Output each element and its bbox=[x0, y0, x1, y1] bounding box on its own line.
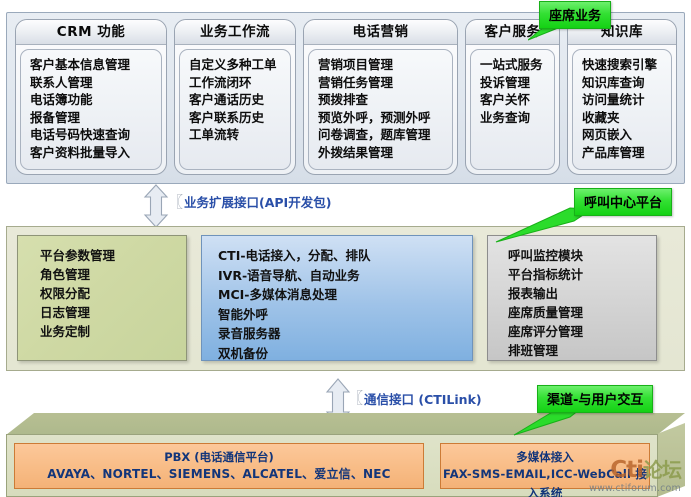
list-item: 营销项目管理 bbox=[318, 56, 445, 74]
list-item: 问卷调查，题库管理 bbox=[318, 126, 445, 144]
list-item: 排班管理 bbox=[508, 341, 646, 360]
api-double-arrow-icon bbox=[143, 184, 169, 228]
list-item: 工单流转 bbox=[189, 126, 283, 144]
list-item: 座席质量管理 bbox=[508, 303, 646, 322]
panel-core-engine[interactable]: CTI-电话接入，分配、排队 IVR-语音导航、自动业务 MCI-多媒体消息处理… bbox=[201, 235, 473, 361]
card-workflow[interactable]: 业务工作流 自定义多种工单 工作流闭环 客户通话历史 客户联系历史 工单流转 bbox=[174, 19, 296, 175]
list-item: 电话簿功能 bbox=[30, 91, 154, 109]
list-item: 一站式服务 bbox=[480, 56, 547, 74]
watermark: Cti论坛 www.ctiforum.com bbox=[567, 453, 687, 495]
list-item: 业务定制 bbox=[40, 322, 176, 341]
list-item: 客户通话历史 bbox=[189, 91, 283, 109]
card-customer-service[interactable]: 客户服务 一站式服务 投诉管理 客户关怀 业务查询 bbox=[465, 19, 560, 175]
list-item: 日志管理 bbox=[40, 303, 176, 322]
panel-platform-admin[interactable]: 平台参数管理 角色管理 权限分配 日志管理 业务定制 bbox=[17, 235, 187, 361]
list-item: 双机备份 bbox=[218, 344, 462, 364]
api-bracket-left-icon: 〖 bbox=[168, 191, 183, 212]
application-card-row: CRM 功能 客户基本信息管理 联系人管理 电话簿功能 报备管理 电话号码快速查… bbox=[15, 19, 676, 175]
pbx-title: PBX (电话通信平台) bbox=[15, 449, 423, 465]
list-item: 客户关怀 bbox=[480, 91, 547, 109]
business-application-layer: CRM 功能 客户基本信息管理 联系人管理 电话簿功能 报备管理 电话号码快速查… bbox=[6, 12, 685, 184]
platform-panel-row: 平台参数管理 角色管理 权限分配 日志管理 业务定制 CTI-电话接入，分配、排… bbox=[17, 235, 674, 361]
list-item: 报表输出 bbox=[508, 284, 646, 303]
watermark-logo-cn: 论坛 bbox=[643, 458, 681, 482]
list-item: 权限分配 bbox=[40, 284, 176, 303]
ctilink-interface-label: 通信接口 (CTILink) bbox=[364, 389, 482, 408]
list-item: 角色管理 bbox=[40, 265, 176, 284]
card-customer-service-body: 一站式服务 投诉管理 客户关怀 业务查询 bbox=[470, 49, 555, 170]
watermark-logo: Cti论坛 bbox=[610, 459, 681, 482]
list-item: CTI-电话接入，分配、排队 bbox=[218, 246, 462, 266]
list-item: 录音服务器 bbox=[218, 324, 462, 344]
architecture-diagram: CRM 功能 客户基本信息管理 联系人管理 电话簿功能 报备管理 电话号码快速查… bbox=[0, 0, 691, 497]
list-item: 预览外呼，预测外呼 bbox=[318, 109, 445, 127]
list-item: 客户联系历史 bbox=[189, 109, 283, 127]
list-item: 客户基本信息管理 bbox=[30, 56, 154, 74]
list-item: 产品库管理 bbox=[582, 144, 664, 162]
list-item: 预拨排查 bbox=[318, 91, 445, 109]
callout-platform[interactable]: 呼叫中心平台 bbox=[574, 188, 672, 216]
list-item: 平台参数管理 bbox=[40, 246, 176, 265]
card-knowledge-base[interactable]: 知识库 快速搜索引擎 知识库查询 访问量统计 收藏夹 网页嵌入 产品库管理 bbox=[567, 19, 677, 175]
list-item: 业务查询 bbox=[480, 109, 547, 127]
list-item: 座席评分管理 bbox=[508, 322, 646, 341]
callout-channel[interactable]: 渠道-与用户交互 bbox=[537, 385, 653, 413]
card-knowledge-base-body: 快速搜索引擎 知识库查询 访问量统计 收藏夹 网页嵌入 产品库管理 bbox=[572, 49, 672, 170]
list-item: 报备管理 bbox=[30, 109, 154, 127]
list-item: 快速搜索引擎 bbox=[582, 56, 664, 74]
list-item: 投诉管理 bbox=[480, 74, 547, 92]
list-item: 访问量统计 bbox=[582, 91, 664, 109]
list-item: 自定义多种工单 bbox=[189, 56, 283, 74]
list-item: 工作流闭环 bbox=[189, 74, 283, 92]
card-crm-title: CRM 功能 bbox=[16, 20, 166, 45]
pbx-vendors: AVAYA、NORTEL、SIEMENS、ALCATEL、爱立信、NEC bbox=[15, 465, 423, 484]
api-interface-label: 业务扩展接口(API开发包) bbox=[184, 192, 331, 211]
card-workflow-title: 业务工作流 bbox=[175, 20, 295, 45]
list-item: 智能外呼 bbox=[218, 305, 462, 325]
list-item: 呼叫监控模块 bbox=[508, 246, 646, 265]
list-item: 外拨结果管理 bbox=[318, 144, 445, 162]
slab-top-face bbox=[6, 413, 685, 435]
call-center-platform-layer: 平台参数管理 角色管理 权限分配 日志管理 业务定制 CTI-电话接入，分配、排… bbox=[6, 226, 685, 371]
list-item: 联系人管理 bbox=[30, 74, 154, 92]
list-item: 营销任务管理 bbox=[318, 74, 445, 92]
list-item: 电话号码快速查询 bbox=[30, 126, 154, 144]
list-item: MCI-多媒体消息处理 bbox=[218, 285, 462, 305]
card-crm[interactable]: CRM 功能 客户基本信息管理 联系人管理 电话簿功能 报备管理 电话号码快速查… bbox=[15, 19, 167, 175]
card-telemarketing[interactable]: 电话营销 营销项目管理 营销任务管理 预拨排查 预览外呼，预测外呼 问卷调查，题… bbox=[303, 19, 458, 175]
channel-box-row: PBX (电话通信平台) AVAYA、NORTEL、SIEMENS、ALCATE… bbox=[14, 443, 650, 489]
watermark-logo-latin: Cti bbox=[610, 457, 643, 483]
watermark-url: www.ctiforum.com bbox=[589, 483, 681, 494]
list-item: 客户资料批量导入 bbox=[30, 144, 154, 162]
card-workflow-body: 自定义多种工单 工作流闭环 客户通话历史 客户联系历史 工单流转 bbox=[179, 49, 291, 170]
list-item: 知识库查询 bbox=[582, 74, 664, 92]
panel-monitoring[interactable]: 呼叫监控模块 平台指标统计 报表输出 座席质量管理 座席评分管理 排班管理 bbox=[487, 235, 657, 361]
list-item: 平台指标统计 bbox=[508, 265, 646, 284]
channel-box-pbx[interactable]: PBX (电话通信平台) AVAYA、NORTEL、SIEMENS、ALCATE… bbox=[14, 443, 424, 489]
card-telemarketing-body: 营销项目管理 营销任务管理 预拨排查 预览外呼，预测外呼 问卷调查，题库管理 外… bbox=[308, 49, 453, 170]
card-telemarketing-title: 电话营销 bbox=[304, 20, 457, 45]
list-item: 收藏夹 bbox=[582, 109, 664, 127]
list-item: IVR-语音导航、自动业务 bbox=[218, 266, 462, 286]
callout-agent-business[interactable]: 座席业务 bbox=[539, 1, 611, 29]
ctilink-bracket-left-icon: 〖 bbox=[348, 387, 363, 408]
list-item: 网页嵌入 bbox=[582, 126, 664, 144]
card-crm-body: 客户基本信息管理 联系人管理 电话簿功能 报备管理 电话号码快速查询 客户资料批… bbox=[20, 49, 162, 170]
